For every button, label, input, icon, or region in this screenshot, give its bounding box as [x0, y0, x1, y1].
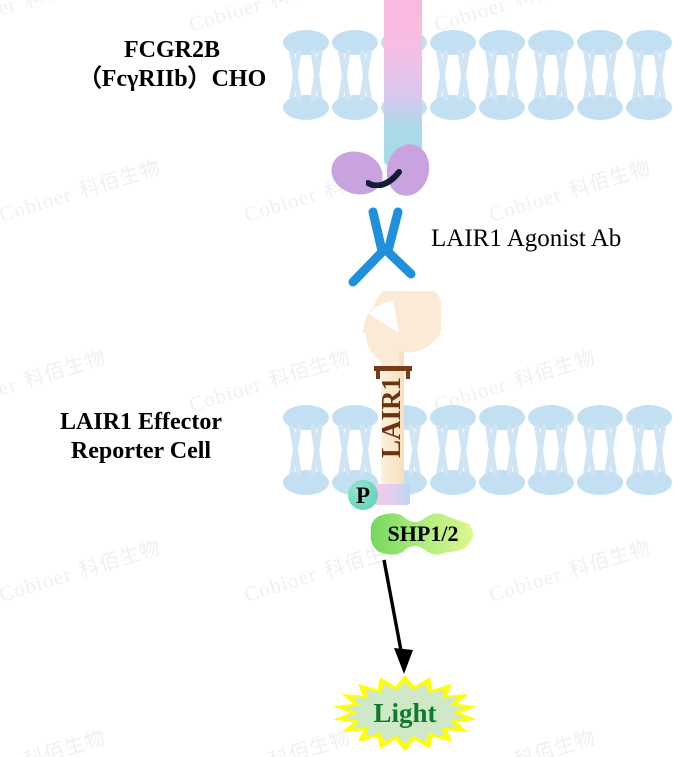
lipid-head: [430, 95, 476, 120]
lair1-itim-motif: [374, 484, 410, 505]
watermark-latin: Cobioer: [186, 0, 264, 37]
lipid-tail: [583, 49, 596, 101]
watermark-text: Cobioer科佰生物: [0, 341, 109, 418]
lipid-tail: [338, 49, 351, 101]
lipid-molecule: [479, 46, 525, 120]
watermark-chinese: 科佰生物: [267, 0, 354, 12]
fcgr2b-stalk: [384, 0, 422, 166]
effector-cell-label-line2: Reporter Cell: [10, 437, 272, 466]
lipid-head: [626, 95, 672, 120]
lipid-molecule: [283, 421, 329, 495]
watermark-latin: Cobioer: [0, 0, 20, 37]
cho-cell-membrane: [283, 30, 673, 120]
lipid-tail: [653, 424, 666, 476]
lipid-tail: [506, 424, 519, 476]
watermark-text: Cobioer科佰生物: [0, 151, 164, 228]
lipid-molecule: [332, 46, 378, 120]
light-readout-node: Light: [330, 673, 480, 753]
light-label: Light: [330, 673, 480, 753]
watermark-text: Cobioer科佰生物: [185, 721, 354, 757]
lipid-tail: [310, 424, 323, 476]
watermark-latin: Cobioer: [0, 182, 75, 227]
lipid-tail: [485, 49, 498, 101]
watermark-latin: Cobioer: [486, 562, 564, 607]
diagram-canvas: Cobioer科佰生物Cobioer科佰生物Cobioer科佰生物Cobioer…: [0, 0, 673, 757]
lipid-tail: [632, 424, 645, 476]
lipid-tail: [604, 424, 617, 476]
lipid-molecule: [626, 46, 672, 120]
lipid-head: [528, 470, 574, 495]
lipid-tail: [583, 424, 596, 476]
lipid-head: [577, 470, 623, 495]
watermark-chinese: 科佰生物: [512, 727, 599, 757]
watermark-text: Cobioer科佰生物: [0, 721, 109, 757]
lipid-tail: [555, 424, 568, 476]
watermark-latin: Cobioer: [186, 752, 264, 757]
antibody-label: LAIR1 Agonist Ab: [431, 224, 671, 255]
cho-cell-label-line1: FCGR2B: [52, 36, 292, 65]
lair1-agonist-antibody-icon: [341, 206, 427, 290]
watermark-chinese: 科佰生物: [22, 727, 109, 757]
lipid-molecule: [430, 46, 476, 120]
lipid-tail: [310, 49, 323, 101]
lipid-head: [283, 95, 329, 120]
signal-arrow-icon: [368, 556, 428, 678]
watermark-chinese: 科佰生物: [77, 157, 164, 203]
watermark-chinese: 科佰生物: [22, 347, 109, 393]
watermark-text: Cobioer科佰生物: [485, 531, 654, 608]
lipid-tail: [485, 424, 498, 476]
effector-cell-label: LAIR1 Effector Reporter Cell: [10, 408, 272, 467]
watermark-chinese: 科佰生物: [567, 157, 654, 203]
lipid-head: [577, 95, 623, 120]
watermark-chinese: 科佰生物: [512, 0, 599, 12]
watermark-chinese: 科佰生物: [22, 0, 109, 12]
watermark-text: Cobioer科佰生物: [0, 0, 109, 38]
lipid-tail: [534, 49, 547, 101]
lipid-head: [430, 470, 476, 495]
lipid-head: [479, 95, 525, 120]
lipid-tail: [436, 49, 449, 101]
lipid-molecule: [626, 421, 672, 495]
shp12-label: SHP1/2: [369, 510, 477, 558]
watermark-text: Cobioer科佰生物: [485, 151, 654, 228]
effector-cell-label-line1: LAIR1 Effector: [10, 408, 272, 437]
shp12-node: SHP1/2: [369, 510, 477, 558]
watermark-latin: Cobioer: [241, 182, 319, 227]
lipid-tail: [359, 49, 372, 101]
watermark-latin: Cobioer: [0, 562, 75, 607]
watermark-latin: Cobioer: [486, 182, 564, 227]
lipid-tail: [534, 424, 547, 476]
fcgr2b-hinge-icon: [366, 166, 404, 188]
phosphorylation-badge: P: [348, 480, 378, 510]
lipid-tail: [289, 424, 302, 476]
lipid-head: [283, 470, 329, 495]
lipid-molecule: [577, 46, 623, 120]
watermark-chinese: 科佰生物: [77, 537, 164, 583]
watermark-chinese: 科佰生物: [567, 537, 654, 583]
lipid-head: [528, 95, 574, 120]
phosphorylation-label: P: [356, 484, 370, 507]
lair1-receptor-label-text: LAIR1: [376, 376, 407, 457]
cho-cell-label: FCGR2B （FcγRIIb）CHO: [52, 36, 292, 95]
lipid-tail: [604, 49, 617, 101]
lipid-tail: [506, 49, 519, 101]
lipid-molecule: [577, 421, 623, 495]
watermark-text: Cobioer科佰生物: [0, 531, 164, 608]
watermark-latin: Cobioer: [0, 752, 20, 757]
watermark-chinese: 科佰生物: [512, 347, 599, 393]
lipid-tail: [457, 49, 470, 101]
lair1-receptor-label: LAIR1: [337, 362, 447, 472]
lipid-molecule: [528, 421, 574, 495]
lipid-tail: [653, 49, 666, 101]
lipid-head: [479, 470, 525, 495]
lipid-tail: [632, 49, 645, 101]
lipid-molecule: [479, 421, 525, 495]
lipid-tail: [555, 49, 568, 101]
watermark-latin: Cobioer: [241, 562, 319, 607]
lipid-head: [332, 95, 378, 120]
cho-cell-label-line2: （FcγRIIb）CHO: [52, 65, 292, 94]
lipid-tail: [457, 424, 470, 476]
lipid-molecule: [528, 46, 574, 120]
lipid-head: [626, 470, 672, 495]
